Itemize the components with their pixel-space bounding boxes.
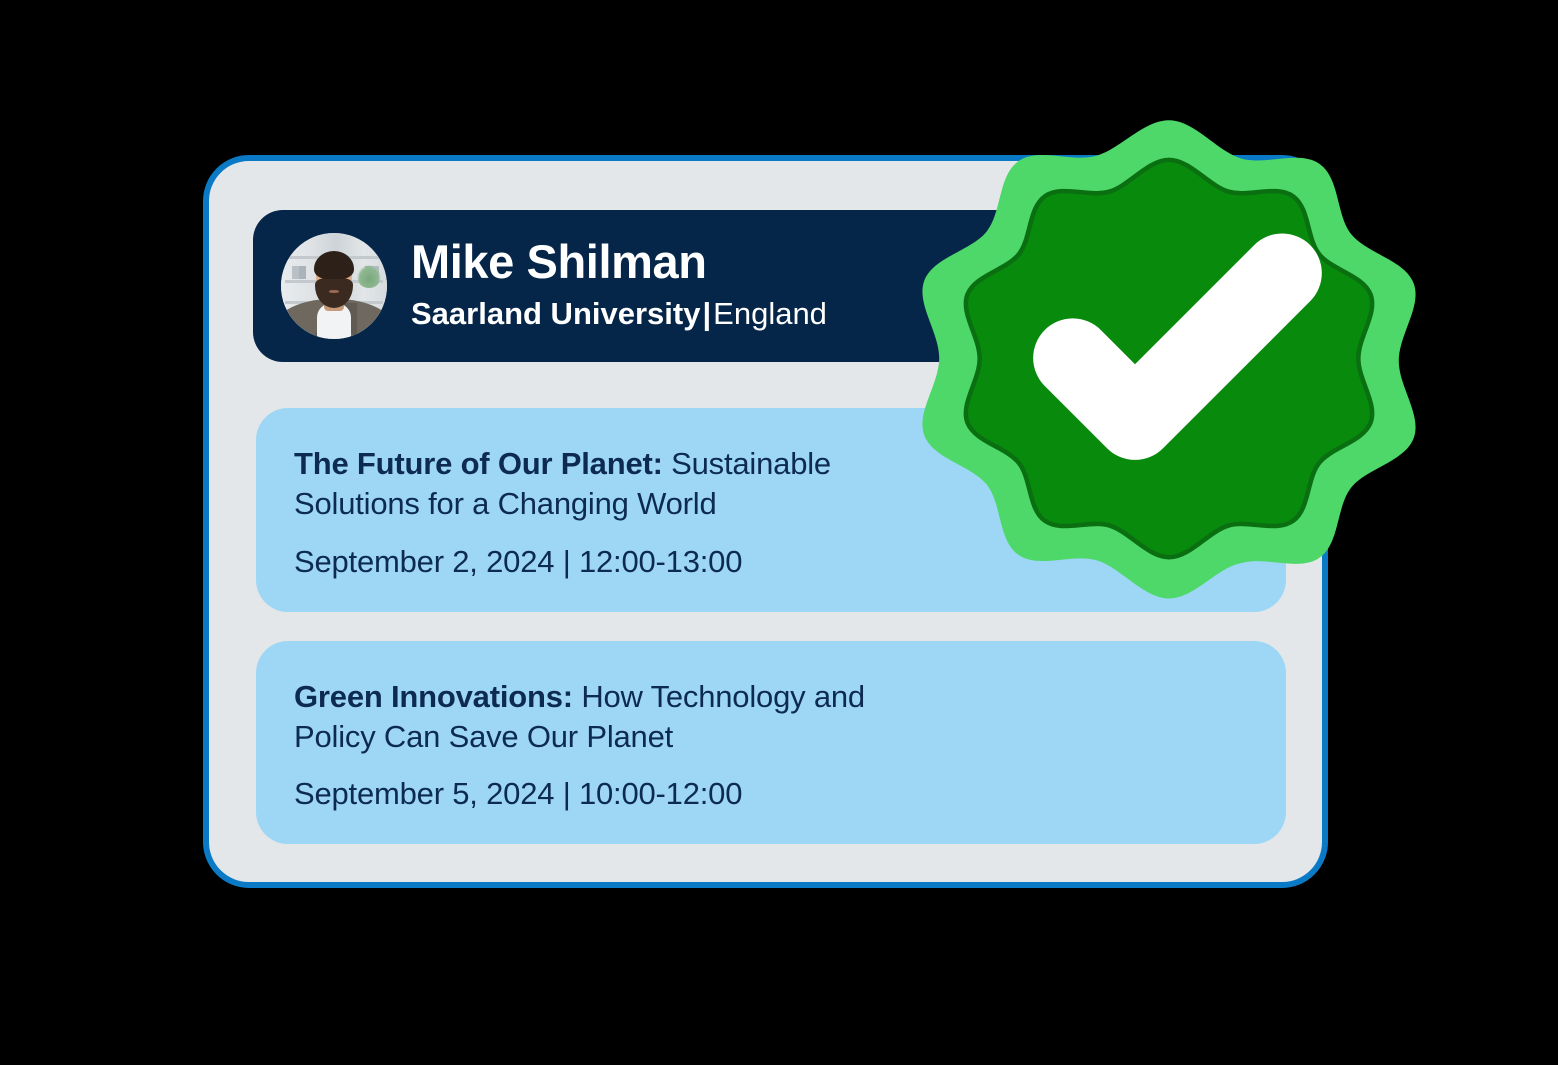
session-topic: Green Innovations: (294, 679, 573, 714)
verified-check-icon (886, 68, 1452, 648)
session-title: The Future of Our Planet: Sustainable So… (294, 444, 934, 525)
session-title: Green Innovations: How Technology and Po… (294, 677, 934, 758)
speaker-organization: Saarland University (411, 296, 700, 331)
speaker-country: England (713, 296, 827, 331)
speaker-meta: Mike Shilman Saarland University|England (411, 237, 827, 334)
speaker-name: Mike Shilman (411, 237, 827, 288)
screenshot-stage: Mike Shilman Saarland University|England… (0, 0, 1558, 1065)
avatar (281, 233, 387, 339)
session-topic: The Future of Our Planet: (294, 446, 663, 481)
session-datetime: September 5, 2024 | 10:00-12:00 (294, 776, 1248, 812)
affiliation-separator: | (700, 296, 713, 331)
verified-badge (886, 68, 1452, 648)
session-card[interactable]: Green Innovations: How Technology and Po… (256, 641, 1286, 845)
speaker-affiliation: Saarland University|England (411, 294, 827, 334)
